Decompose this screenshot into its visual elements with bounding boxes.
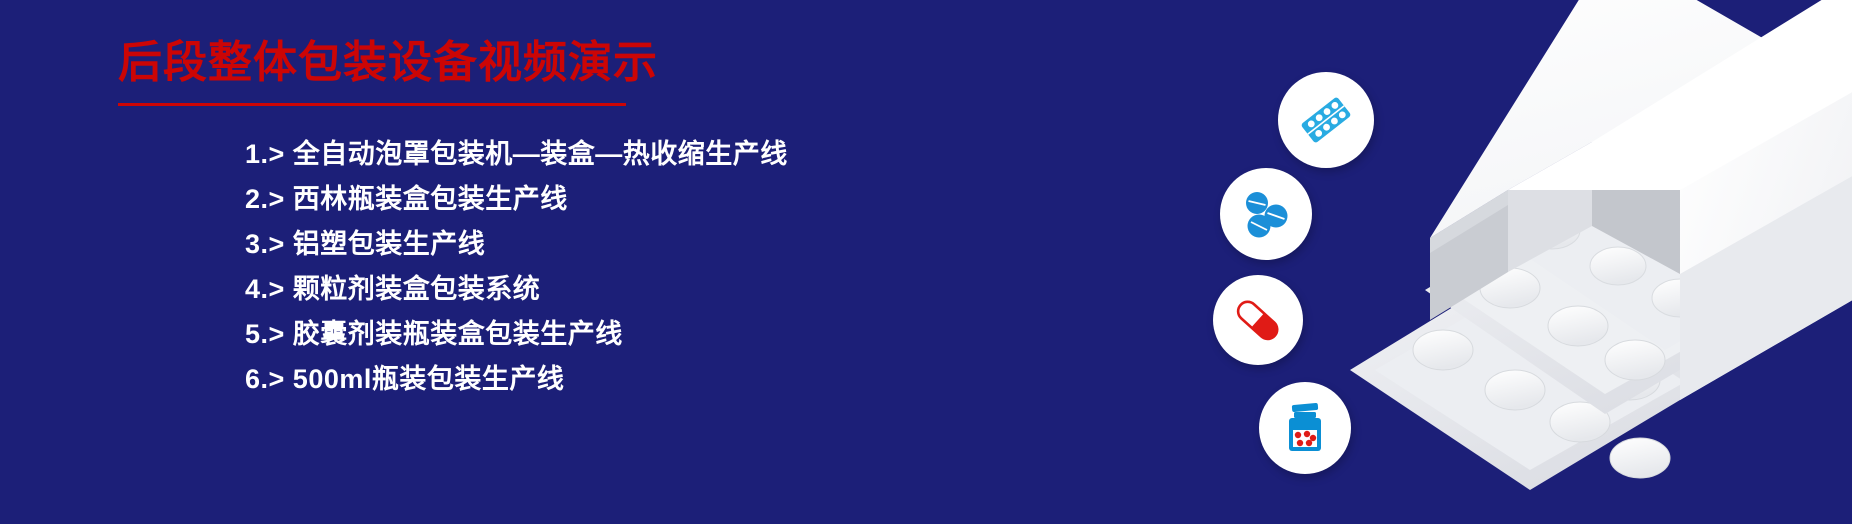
list-item-label: 500ml瓶装包装生产线 xyxy=(293,364,565,394)
list-item-number: 5.> xyxy=(245,319,293,349)
list-item-number: 2.> xyxy=(245,184,293,214)
list-item-number: 1.> xyxy=(245,139,293,169)
capsule-icon xyxy=(1229,291,1287,349)
list-item-number: 4.> xyxy=(245,274,293,304)
carton-with-blister-packs-illustration xyxy=(1330,0,1852,524)
tablets-icon-badge xyxy=(1220,168,1312,260)
promo-banner: 后段整体包装设备视频演示 1.> 全自动泡罩包装机—装盒—热收缩生产线 2.> … xyxy=(0,0,1852,524)
list-item[interactable]: 6.> 500ml瓶装包装生产线 xyxy=(245,357,788,402)
list-item[interactable]: 1.> 全自动泡罩包装机—装盒—热收缩生产线 xyxy=(245,132,788,177)
list-item[interactable]: 2.> 西林瓶装盒包装生产线 xyxy=(245,177,788,222)
feature-list: 1.> 全自动泡罩包装机—装盒—热收缩生产线 2.> 西林瓶装盒包装生产线 3.… xyxy=(245,132,788,402)
page-title: 后段整体包装设备视频演示 xyxy=(118,38,818,89)
list-item-label: 铝塑包装生产线 xyxy=(293,229,486,259)
tablets-icon xyxy=(1237,185,1295,243)
list-item[interactable]: 4.> 颗粒剂装盒包装系统 xyxy=(245,267,788,312)
title-underline-divider xyxy=(118,103,626,106)
list-item[interactable]: 3.> 铝塑包装生产线 xyxy=(245,222,788,267)
capsule-icon-badge xyxy=(1213,275,1303,365)
list-item-label: 西林瓶装盒包装生产线 xyxy=(293,184,568,214)
title-block: 后段整体包装设备视频演示 xyxy=(118,38,818,106)
list-item-number: 6.> xyxy=(245,364,293,394)
list-item-number: 3.> xyxy=(245,229,293,259)
list-item[interactable]: 5.> 胶囊剂装瓶装盒包装生产线 xyxy=(245,312,788,357)
list-item-label: 颗粒剂装盒包装系统 xyxy=(293,274,541,304)
list-item-label: 全自动泡罩包装机—装盒—热收缩生产线 xyxy=(293,139,788,169)
list-item-label: 胶囊剂装瓶装盒包装生产线 xyxy=(293,319,623,349)
pill-bottle-icon xyxy=(1277,399,1333,457)
